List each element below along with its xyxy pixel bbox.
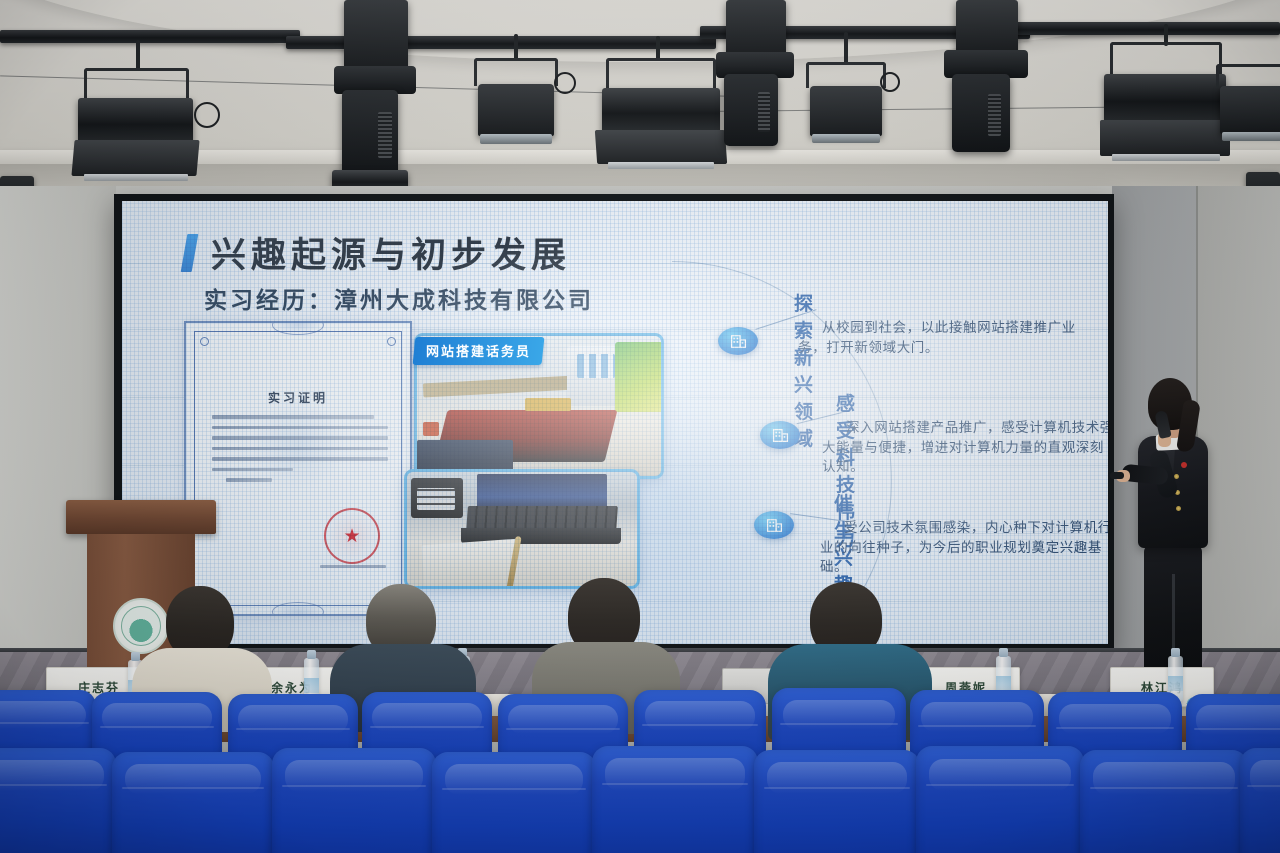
school-crest-icon: [113, 598, 169, 654]
bullet-1-heading: 探索新兴领域: [794, 289, 815, 451]
certificate-signature-line: [320, 565, 386, 569]
building-icon: [760, 421, 800, 449]
photo-caption-tag: 网站搭建话务员: [413, 337, 545, 365]
seal-star-icon: ★: [343, 527, 360, 546]
certificate-corner-ornament: [200, 337, 209, 346]
audience-chair[interactable]: [0, 748, 116, 853]
podium-top: [66, 500, 216, 534]
certificate-corner-ornament: [387, 337, 396, 346]
slide-title-row: 兴趣起源与初步发展: [184, 227, 571, 278]
audience-chair[interactable]: [272, 748, 436, 853]
presenter-button: [1176, 506, 1181, 511]
lighting-truss: [0, 30, 300, 43]
audience-chair[interactable]: [592, 746, 758, 853]
audience-chair[interactable]: [432, 752, 596, 853]
bullet-1-body: 从校园到社会，以此接触网站搭建推广业务，打开新领域大门。: [798, 319, 1098, 358]
audience-chair[interactable]: [112, 752, 274, 853]
audience-chair[interactable]: [1080, 750, 1248, 853]
presenter-lapel-pin: [1181, 462, 1187, 468]
presentation-clicker: [1110, 472, 1124, 479]
workspace-photo-laptop: [404, 469, 640, 589]
certificate-red-seal: ★: [324, 508, 380, 564]
certificate-body-text: [212, 415, 388, 489]
title-accent-bar: [181, 234, 199, 272]
building-icon: [718, 327, 758, 355]
bullet-3-body: 受公司技术氛围感染，内心种下对计算机行业的向往种子，为今后的职业规划奠定兴趣基础…: [820, 519, 1108, 578]
presentation-slide: 兴趣起源与初步发展 实习经历：漳州大成科技有限公司 实习证明: [122, 201, 1108, 644]
certificate-title: 实习证明: [186, 389, 410, 406]
bullet-2-body: 深入网站搭建产品推广，感受计算机技术强大能量与便捷，增进对计算机力量的直观深刻认…: [822, 419, 1108, 478]
photo-caption-text: 网站搭建话务员: [426, 341, 531, 360]
audience-chair[interactable]: [916, 746, 1084, 853]
lighting-truss: [1008, 22, 1280, 35]
slide-subtitle: 实习经历：漳州大成科技有限公司: [204, 281, 594, 315]
auditorium-presentation-scene: 兴趣起源与初步发展 实习经历：漳州大成科技有限公司 实习证明: [0, 0, 1280, 853]
audience-chair[interactable]: [754, 750, 920, 853]
presenter: [1118, 378, 1246, 693]
building-icon: [754, 511, 794, 539]
internship-certificate-image: 实习证明 ★: [184, 321, 412, 616]
certificate-bottom-ornament: [272, 602, 324, 616]
audience-chair[interactable]: [1240, 748, 1280, 853]
slide-title: 兴趣起源与初步发展: [211, 227, 571, 278]
